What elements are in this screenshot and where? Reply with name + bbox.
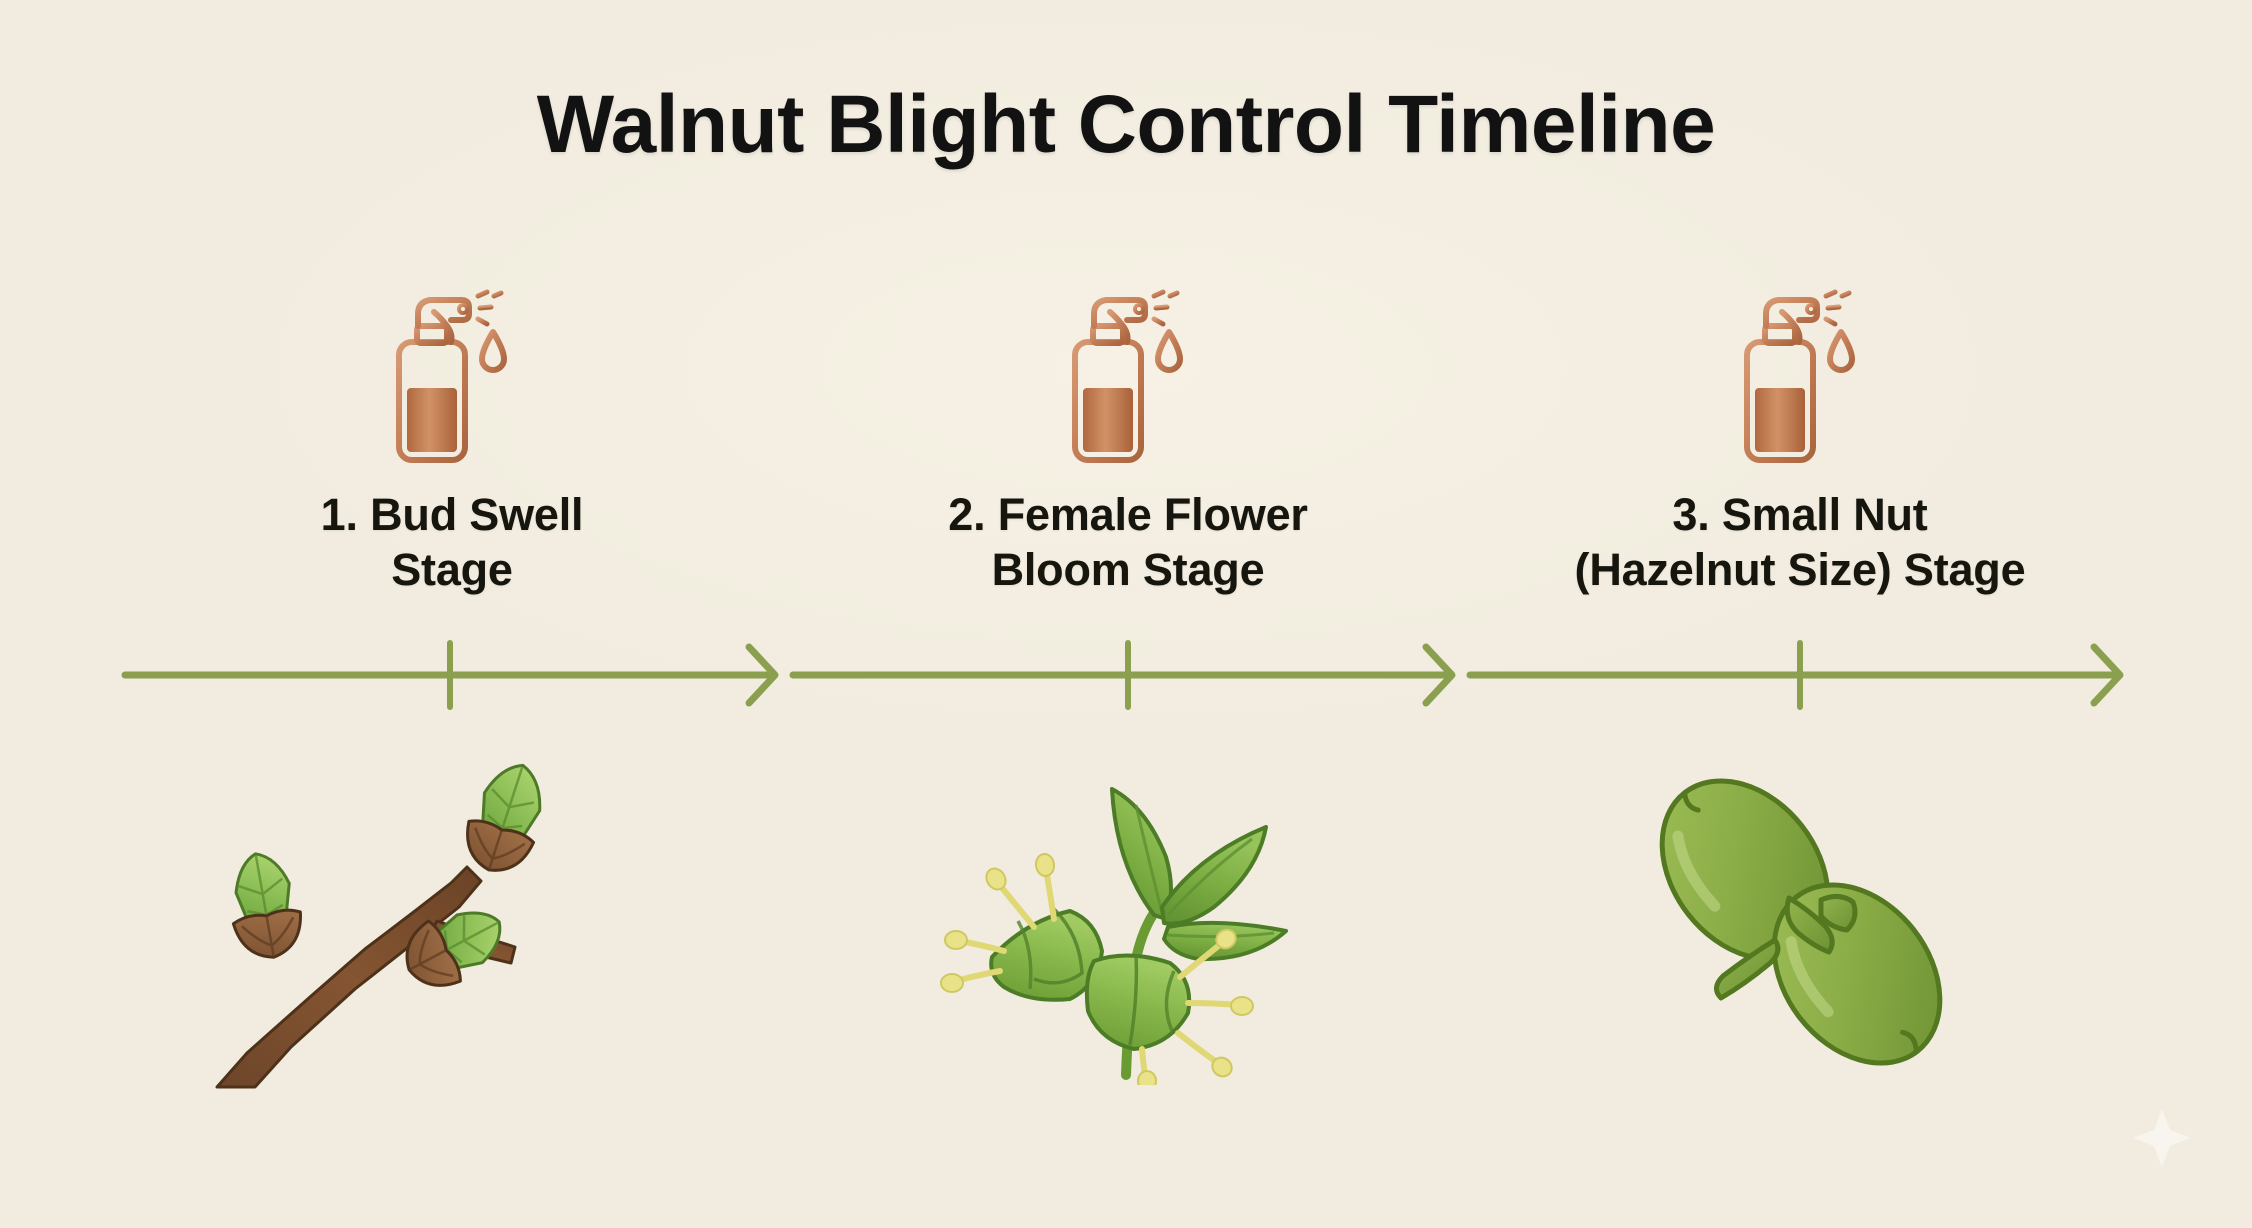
spray-bottle-icon [377, 280, 527, 470]
stage-column-2: 2. Female Flower Bloom Stage [848, 280, 1408, 598]
spray-bottle-icon [1725, 280, 1875, 470]
timeline-axis [0, 640, 2252, 710]
stage-column-1: 1. Bud Swell Stage [172, 280, 732, 598]
small-nut-illustration [1625, 750, 1985, 1090]
spray-bottle-icon [1053, 280, 1203, 470]
stage-label-3: 3. Small Nut (Hazelnut Size) Stage [1520, 488, 2080, 598]
female-flower-illustration [930, 745, 1350, 1085]
infographic-canvas: Walnut Blight Control Timeline [0, 0, 2252, 1228]
sparkle-watermark [2127, 1103, 2197, 1173]
stage-column-3: 3. Small Nut (Hazelnut Size) Stage [1520, 280, 2080, 598]
stage-label-2: 2. Female Flower Bloom Stage [848, 488, 1408, 598]
stage-label-1: 1. Bud Swell Stage [172, 488, 732, 598]
page-title: Walnut Blight Control Timeline [0, 84, 2252, 166]
budding-branch-illustration [215, 735, 655, 1095]
